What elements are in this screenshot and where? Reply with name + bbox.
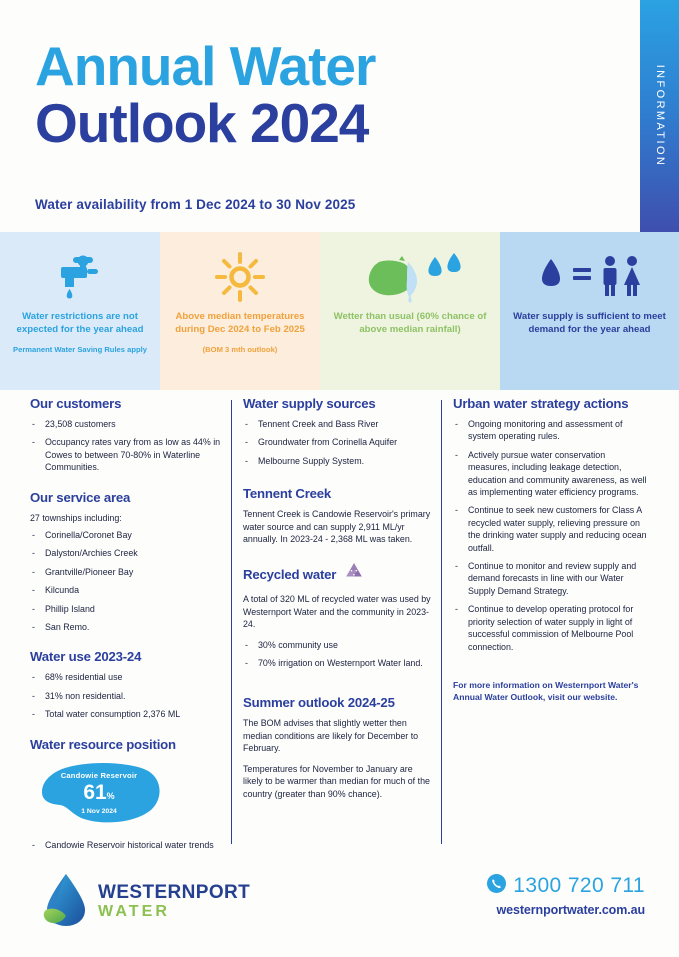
list-item: Total water consumption 2,376 ML [30,708,222,720]
website-url[interactable]: westernportwater.com.au [487,903,645,917]
column-divider-2 [441,400,442,844]
contact-block: 1300 720 711 westernportwater.com.au [487,874,645,917]
list-recycled-water: 30% community use 70% irrigation on West… [243,639,433,670]
list-item: Corinella/Coronet Bay [30,529,222,541]
heading-water-resource-position: Water resource position [30,737,222,753]
heading-recycled-water: Recycled water [243,567,336,583]
banner-text-restrictions: Water restrictions are not expected for … [0,310,160,336]
tennent-creek-body: Tennent Creek is Candowie Reservoir's pr… [243,508,433,545]
list-item: Groundwater from Corinella Aquifer [243,436,433,448]
heading-urban-water-strategy-actions: Urban water strategy actions [453,396,649,412]
list-strategy-actions: Ongoing monitoring and assessment of sys… [453,418,649,653]
heading-tennent-creek: Tennent Creek [243,486,433,502]
list-item: 30% community use [243,639,433,651]
page-title: Annual Water Outlook 2024 [35,38,605,152]
column-customers: Our customers 23,508 customers Occupancy… [30,396,222,874]
recycled-water-body: A total of 320 ML of recycled water was … [243,593,433,630]
logo-line-2: WATER [98,903,250,920]
list-item: Phillip Island [30,603,222,615]
list-item: Continue to develop operating protocol f… [453,603,649,653]
reservoir-date: 1 Nov 2024 [34,808,164,815]
more-information-note: For more information on Westernport Wate… [453,679,649,704]
recycle-icon [343,562,365,587]
list-item: 68% residential use [30,671,222,683]
page-subtitle: Water availability from 1 Dec 2024 to 30… [35,197,355,212]
page-header: Annual Water Outlook 2024 Water availabi… [0,0,679,232]
list-item: Melbourne Supply System. [243,455,433,467]
banner-text-supply: Water supply is sufficient to meet deman… [500,310,679,336]
list-item: Continue to monitor and review supply an… [453,560,649,597]
heading-water-use: Water use 2023-24 [30,649,222,665]
reservoir-percent-unit: % [107,791,115,801]
banner-panel-supply: Water supply is sufficient to meet deman… [500,232,679,390]
summer-outlook-paragraph: Temperatures for November to January are… [243,763,433,800]
reservoir-value: 61% [34,781,164,808]
banner-panel-temperature: Above median temperatures during Dec 202… [160,232,320,390]
reservoir-level-graphic: Candowie Reservoir 61% 1 Nov 2024 [34,759,194,831]
recycled-water-heading-row: Recycled water [243,562,433,587]
banner-text-temperature: Above median temperatures during Dec 202… [160,310,320,336]
column-divider-1 [231,400,232,844]
list-item: San Remo. [30,621,222,633]
logo-line-1: WESTERNPORT [98,883,250,903]
title-line-1: Annual Water [35,38,605,94]
phone-number[interactable]: 1300 720 711 [513,874,645,898]
content-columns: Our customers 23,508 customers Occupancy… [0,396,679,848]
list-item: Grantville/Pioneer Bay [30,566,222,578]
list-item: 31% non residential. [30,690,222,702]
phone-row[interactable]: 1300 720 711 [487,874,645,898]
banner-panel-rainfall: Wetter than usual (60% chance of above m… [320,232,500,390]
banner-sub-restrictions: Permanent Water Saving Rules apply [0,344,160,355]
list-item: Occupancy rates vary from as low as 44% … [30,436,222,473]
key-messages-banner: Water restrictions are not expected for … [0,232,679,390]
reservoir-percent-number: 61 [83,781,106,804]
list-our-customers: 23,508 customers Occupancy rates vary fr… [30,418,222,474]
list-item: Actively pursue water conservation measu… [453,449,649,499]
reservoir-name: Candowie Reservoir [34,771,164,780]
banner-text-rainfall: Wetter than usual (60% chance of above m… [320,310,500,336]
service-area-lead: 27 townships including: [30,512,222,524]
annual-water-outlook-page: Annual Water Outlook 2024 Water availabi… [0,0,679,957]
reservoir-labels: Candowie Reservoir 61% 1 Nov 2024 [34,759,164,815]
list-item: Tennent Creek and Bass River [243,418,433,430]
tap-dripping-icon [0,246,160,308]
heading-our-customers: Our customers [30,396,222,412]
column-supply: Water supply sources Tennent Creek and B… [243,396,433,808]
australia-map-raindrops-icon [320,246,500,308]
title-line-2: Outlook 2024 [35,94,605,152]
sun-icon [160,246,320,308]
westernport-water-logo[interactable]: WESTERNPORT WATER [42,871,250,932]
side-tab-label: INFORMATION [654,65,666,168]
heading-water-supply-sources: Water supply sources [243,396,433,412]
list-service-area: Corinella/Coronet Bay Dalyston/Archies C… [30,529,222,633]
summer-outlook-paragraph: The BOM advises that slightly wetter the… [243,717,433,754]
water-droplet-leaf-icon [42,871,88,932]
list-item: Continue to seek new customers for Class… [453,504,649,554]
phone-icon [487,874,506,898]
banner-sub-temperature: (BOM 3 mth outlook) [160,344,320,355]
list-item: Kilcunda [30,584,222,596]
page-footer: WESTERNPORT WATER 1300 720 711 westernpo… [0,848,679,957]
logo-wordmark: WESTERNPORT WATER [98,883,250,920]
column-strategy-actions: Urban water strategy actions Ongoing mon… [453,396,649,704]
heading-summer-outlook: Summer outlook 2024-25 [243,695,433,711]
list-item: 23,508 customers [30,418,222,430]
list-item: Ongoing monitoring and assessment of sys… [453,418,649,443]
list-item: Dalyston/Archies Creek [30,547,222,559]
heading-our-service-area: Our service area [30,490,222,506]
banner-panel-restrictions: Water restrictions are not expected for … [0,232,160,390]
list-supply-sources: Tennent Creek and Bass River Groundwater… [243,418,433,467]
list-item: 70% irrigation on Westernport Water land… [243,657,433,669]
list-water-use: 68% residential use 31% non residential.… [30,671,222,720]
information-side-tab: INFORMATION [640,0,679,232]
droplet-equals-people-icon [500,246,679,308]
